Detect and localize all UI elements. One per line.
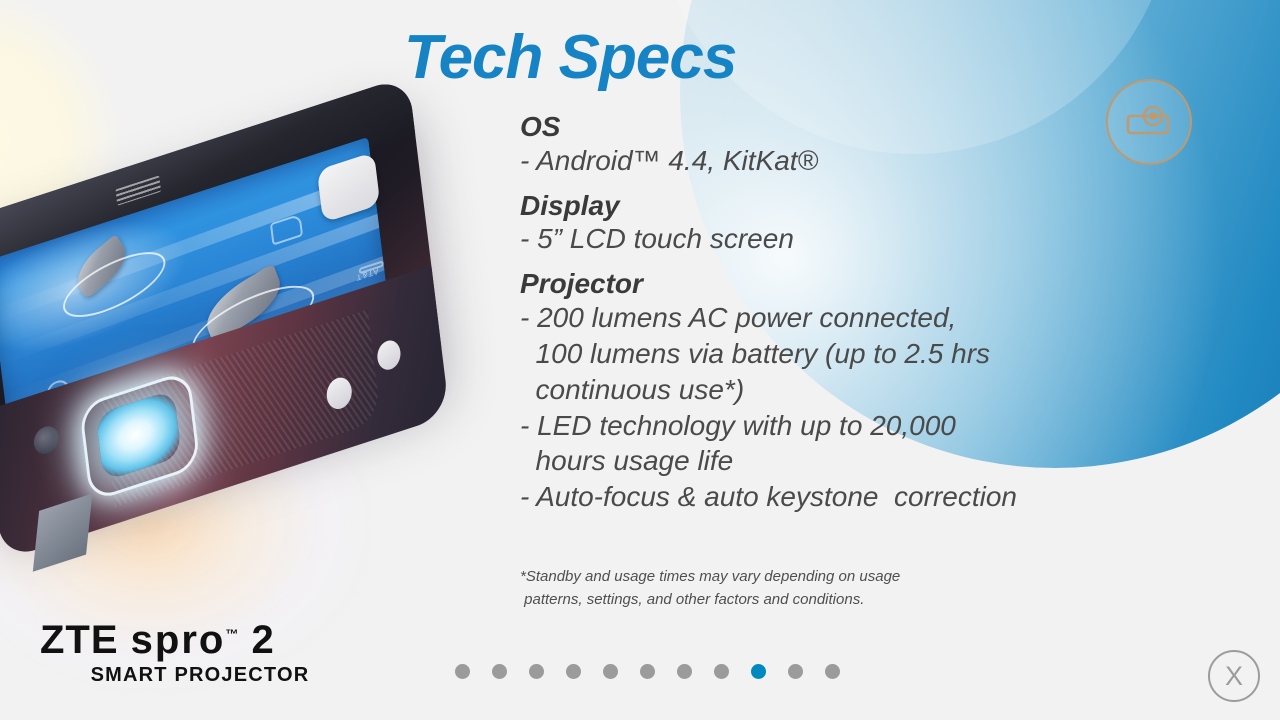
spec-line: - Android™ 4.4, KitKat® [520, 143, 1210, 179]
spec-line: - 5” LCD touch screen [520, 221, 1210, 257]
device-top-bezel [0, 76, 415, 280]
close-icon: X [1225, 661, 1243, 692]
dolphin-shape [70, 234, 133, 300]
device-port-b [376, 337, 402, 373]
device-body [0, 76, 445, 525]
device-home-button [317, 152, 381, 223]
water-ripple [187, 271, 319, 371]
device-port-a [325, 374, 353, 412]
spec-line: 100 lumens via battery (up to 2.5 hrs [520, 336, 1210, 372]
spec-heading: Projector [520, 269, 1210, 300]
device-side-button [358, 260, 383, 274]
pagination-dot-2[interactable] [492, 664, 507, 679]
pagination-dot-11[interactable] [825, 664, 840, 679]
projector-icon [1126, 103, 1172, 142]
close-button[interactable]: X [1208, 650, 1260, 702]
spec-group-projector: Projector - 200 lumens AC power connecte… [520, 269, 1210, 515]
lens-flare-top [0, 0, 120, 290]
spec-group-display: Display - 5” LCD touch screen [520, 191, 1210, 258]
pagination-dots[interactable] [455, 664, 840, 679]
pagination-dot-4[interactable] [566, 664, 581, 679]
logo-product: spro [131, 618, 226, 662]
spec-line: - 200 lumens AC power connected, [520, 300, 1210, 336]
logo-wordmark: ZTE spro™ 2 [40, 620, 370, 660]
projector-lens-light [96, 389, 182, 481]
pagination-dot-7[interactable] [677, 664, 692, 679]
logo-version: 2 [251, 618, 274, 662]
dolphin-shape [200, 263, 287, 344]
projector-badge [1106, 79, 1192, 165]
carrier-label: AT&T [355, 266, 379, 282]
logo-tagline: SMART PROJECTOR [40, 664, 370, 687]
water-ripple [58, 239, 171, 330]
pagination-dot-1[interactable] [455, 664, 470, 679]
device-front-face [0, 266, 450, 561]
pagination-dot-5[interactable] [603, 664, 618, 679]
pagination-dot-10[interactable] [788, 664, 803, 679]
logo-trademark: ™ [225, 627, 239, 642]
spec-line: - Auto-focus & auto keystone correction [520, 479, 1210, 515]
nfc-icon [46, 378, 69, 403]
logo-brand: ZTE [40, 618, 119, 662]
pagination-dot-3[interactable] [529, 664, 544, 679]
brand-logo: ZTE spro™ 2 SMART PROJECTOR [40, 620, 370, 687]
device-texture [101, 310, 381, 508]
spec-line: - LED technology with up to 20,000 [520, 408, 1210, 444]
page-title: Tech Specs [404, 22, 736, 93]
pagination-dot-6[interactable] [640, 664, 655, 679]
device-sensor [32, 423, 60, 457]
device-speaker-grille [115, 175, 161, 205]
footnote: *Standby and usage times may vary depend… [520, 565, 1160, 612]
spec-line: continuous use*) [520, 372, 1210, 408]
projector-lens-ring [79, 370, 201, 503]
device-touch-screen [0, 137, 393, 463]
device-render: AT&T [0, 76, 449, 555]
spec-heading: Display [520, 191, 1210, 222]
pagination-dot-8[interactable] [714, 664, 729, 679]
pagination-dot-9[interactable] [751, 664, 766, 679]
device-kickstand [33, 494, 93, 572]
slide-root: AT&T Tech Specs OS - Android™ 4.4, KitKa… [0, 0, 1280, 720]
spec-list: OS - Android™ 4.4, KitKat® Display - 5” … [520, 112, 1210, 527]
spec-line: hours usage life [520, 443, 1210, 479]
product-image: AT&T [0, 60, 530, 580]
device-back-button [270, 214, 303, 246]
